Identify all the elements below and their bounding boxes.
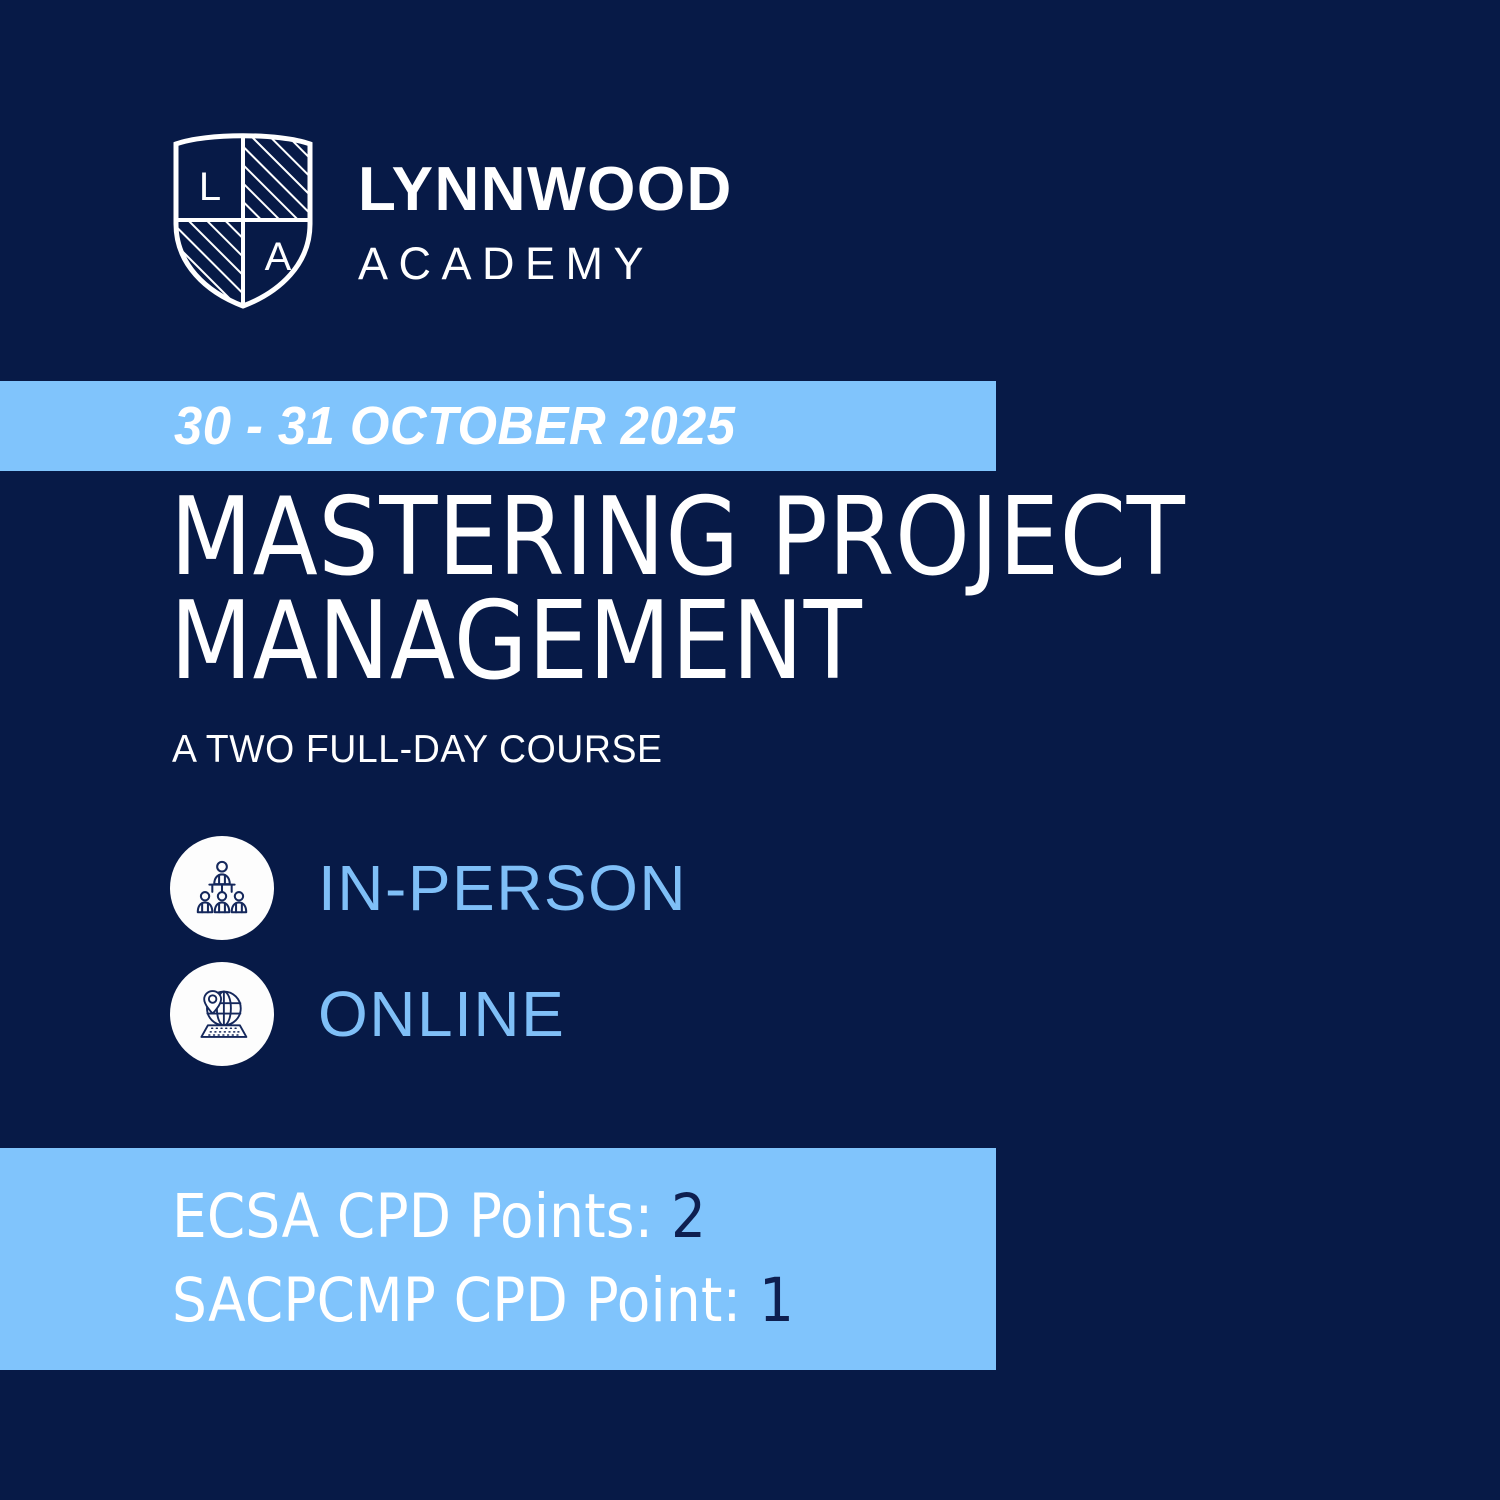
- svg-text:A: A: [265, 235, 292, 279]
- delivery-mode-label-in-person: IN-PERSON: [318, 851, 687, 925]
- event-date-band: 30 - 31 OCTOBER 2025: [0, 381, 996, 471]
- cpd-points-band: ECSA CPD Points: 2 SACPCMP CPD Point: 1: [0, 1148, 996, 1370]
- cpd-row-ecsa: ECSA CPD Points: 2: [172, 1175, 996, 1259]
- cpd-row-sacpcmp: SACPCMP CPD Point: 1: [172, 1259, 996, 1343]
- course-title: MASTERING PROJECT MANAGEMENT: [170, 486, 1430, 694]
- cpd-value-sacpcmp: 1: [759, 1265, 794, 1336]
- event-date-text: 30 - 31 OCTOBER 2025: [174, 395, 735, 457]
- delivery-modes-list: IN-PERSON: [170, 836, 687, 1066]
- course-subtitle: A TWO FULL-DAY COURSE: [172, 728, 663, 772]
- brand-name-primary: LYNNWOOD: [358, 159, 733, 221]
- course-promo-poster: L A LYNNWOOD ACADEMY 30 - 31 OCTOBER 202…: [0, 0, 1500, 1500]
- delivery-mode-online: ONLINE: [170, 962, 687, 1066]
- course-title-line-2: MANAGEMENT: [170, 590, 1405, 694]
- lynnwood-shield-logo-icon: L A: [168, 128, 318, 310]
- cpd-label-ecsa: ECSA CPD Points:: [172, 1181, 653, 1252]
- audience-presenter-icon: [170, 836, 274, 940]
- delivery-mode-label-online: ONLINE: [318, 977, 565, 1051]
- svg-text:L: L: [199, 165, 221, 209]
- cpd-value-ecsa: 2: [671, 1181, 706, 1252]
- delivery-mode-in-person: IN-PERSON: [170, 836, 687, 940]
- cpd-label-sacpcmp: SACPCMP CPD Point:: [172, 1265, 741, 1336]
- globe-keyboard-icon: [170, 962, 274, 1066]
- brand-wordmark: LYNNWOOD ACADEMY: [358, 153, 733, 286]
- brand-lockup: L A LYNNWOOD ACADEMY: [168, 128, 733, 310]
- brand-name-secondary: ACADEMY: [358, 241, 733, 286]
- course-title-line-1: MASTERING PROJECT: [170, 486, 1405, 590]
